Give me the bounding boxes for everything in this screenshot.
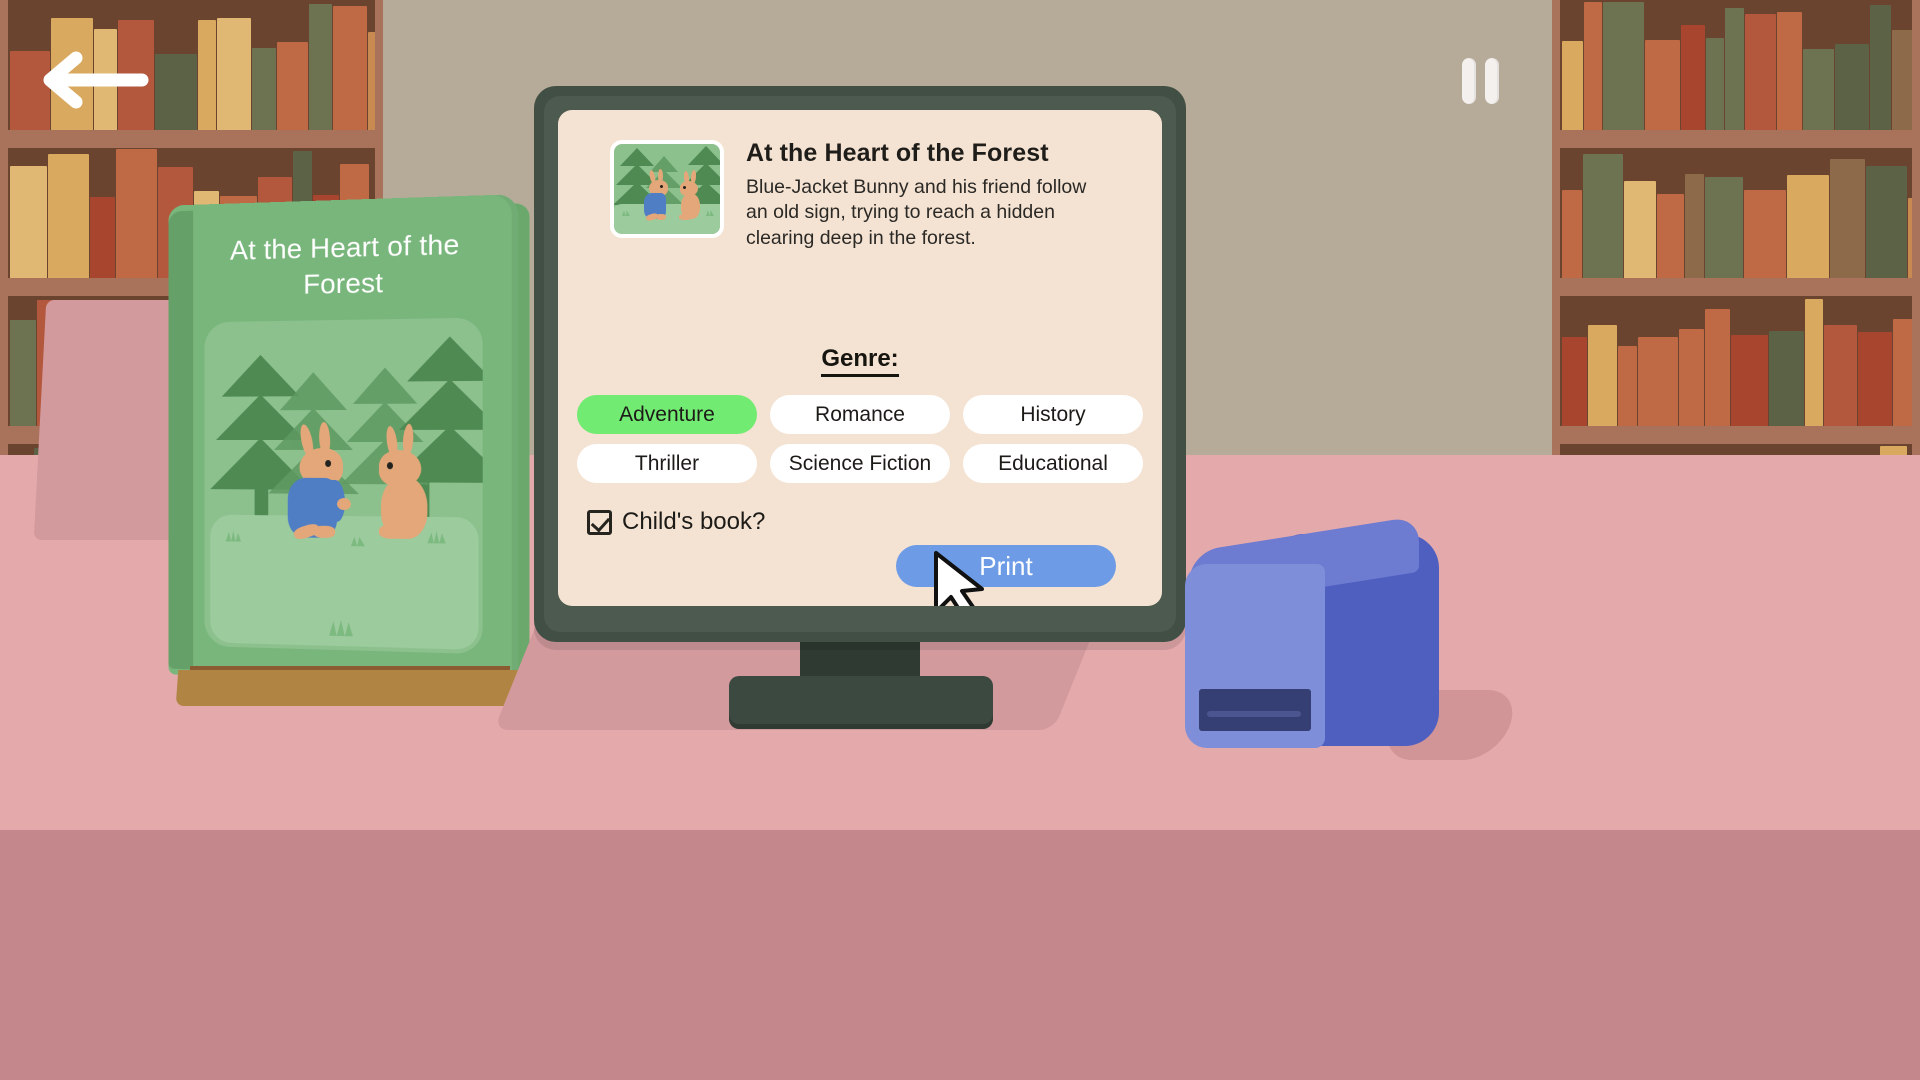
book-bottom-edge — [176, 670, 524, 706]
book-spine — [10, 320, 36, 426]
book-cover-title: At the Heart of the Forest — [197, 226, 495, 305]
monitor-screen: At the Heart of the Forest Blue-Jacket B… — [558, 110, 1162, 606]
book-spine — [1892, 30, 1912, 130]
genre-chip-history[interactable]: History — [963, 395, 1143, 434]
story-description: Blue-Jacket Bunny and his friend follow … — [746, 175, 1096, 253]
book-spine — [155, 54, 197, 130]
book-spine — [48, 154, 89, 278]
genre-options: AdventureRomanceHistoryThrillerScience F… — [577, 395, 1143, 483]
print-button[interactable]: Print — [896, 545, 1116, 587]
book-prop: At the Heart of the Forest — [163, 200, 528, 720]
genre-chip-science-fiction[interactable]: Science Fiction — [770, 444, 950, 483]
shelf-row — [1560, 296, 1912, 426]
shelf-board — [1552, 426, 1920, 442]
shelf-board — [1552, 278, 1920, 294]
genre-section-label: Genre: — [558, 345, 1162, 373]
book-spine — [1562, 337, 1587, 426]
book-spine — [1731, 335, 1768, 426]
book-spine — [333, 6, 367, 130]
back-arrow-icon — [40, 48, 150, 112]
book-spine — [252, 48, 276, 130]
book-spine — [1893, 319, 1912, 426]
mouse-cursor-icon — [932, 550, 990, 606]
book-spine — [1583, 154, 1623, 278]
book-spine — [1562, 41, 1583, 130]
story-meta: At the Heart of the Forest Blue-Jacket B… — [746, 140, 1138, 252]
book-spine — [1803, 49, 1834, 130]
book-spine — [277, 42, 308, 130]
book-spine — [1679, 329, 1704, 426]
book-spine — [1706, 38, 1724, 130]
pause-button[interactable] — [1462, 58, 1510, 108]
bunny-with-jacket — [205, 318, 483, 323]
genre-chip-label: Thriller — [635, 452, 699, 476]
book-spine — [1787, 175, 1829, 278]
book-spine — [1705, 309, 1730, 427]
book-spine — [1866, 166, 1907, 278]
story-thumbnail — [610, 140, 724, 238]
book-spine — [198, 20, 216, 130]
printer[interactable] — [1185, 520, 1450, 750]
book-spine — [1618, 346, 1637, 426]
genre-chip-label: Educational — [998, 452, 1108, 476]
book-spine — [1584, 2, 1602, 130]
pause-bar-right — [1485, 58, 1499, 104]
book-spine — [217, 18, 251, 130]
genre-chip-thriller[interactable]: Thriller — [577, 444, 757, 483]
book-spine — [1603, 2, 1644, 130]
genre-chip-label: Romance — [815, 403, 905, 427]
book-spine — [1562, 190, 1582, 278]
child-book-checkbox[interactable] — [587, 510, 612, 535]
book-spine — [1824, 325, 1857, 426]
book-spine — [1744, 190, 1786, 278]
book-spine — [1908, 198, 1912, 278]
monitor: At the Heart of the Forest Blue-Jacket B… — [534, 86, 1186, 642]
monitor-base — [729, 676, 993, 724]
printer-front-panel — [1185, 564, 1325, 748]
book-spine — [1725, 8, 1744, 130]
genre-chip-adventure[interactable]: Adventure — [577, 395, 757, 434]
bunny-plain — [205, 318, 483, 323]
story-header: At the Heart of the Forest Blue-Jacket B… — [610, 140, 1138, 252]
genre-chip-romance[interactable]: Romance — [770, 395, 950, 434]
book-spine — [1705, 177, 1743, 278]
book-spine — [1870, 5, 1891, 130]
book-spine — [368, 32, 375, 130]
story-title: At the Heart of the Forest — [746, 140, 1138, 168]
book-spine — [1624, 181, 1656, 278]
book-spine — [10, 166, 47, 278]
book-spine — [1858, 332, 1892, 426]
book-spine — [1681, 25, 1705, 130]
scene: At the Heart of the Forest — [0, 0, 1920, 1080]
genre-chip-label: Science Fiction — [789, 452, 931, 476]
child-book-row[interactable]: Child's book? — [587, 508, 765, 536]
book-spine — [1835, 44, 1869, 130]
book-spine — [1745, 14, 1776, 130]
book-spine — [1657, 194, 1684, 278]
shelf-board — [0, 130, 383, 146]
book-spine — [1769, 331, 1804, 426]
book-spine — [90, 197, 115, 278]
back-button[interactable] — [40, 48, 150, 112]
genre-chip-educational[interactable]: Educational — [963, 444, 1143, 483]
book-front-cover: At the Heart of the Forest — [168, 194, 518, 686]
genre-chip-label: Adventure — [619, 403, 715, 427]
book-spine — [1777, 12, 1802, 130]
book-spine — [168, 211, 193, 670]
child-book-label: Child's book? — [622, 508, 765, 536]
pause-bar-left — [1462, 58, 1476, 104]
book-spine — [1805, 299, 1823, 427]
book-spine — [309, 4, 332, 130]
shelf-board — [1552, 130, 1920, 146]
book-spine — [116, 149, 157, 278]
genre-chip-label: History — [1020, 403, 1085, 427]
book-spine — [1830, 159, 1865, 278]
genre-label-text: Genre: — [821, 345, 898, 377]
shelf-row — [1560, 148, 1912, 278]
book-cover-illustration — [205, 318, 483, 654]
book-spine — [1588, 325, 1617, 426]
printer-paper-slot — [1199, 689, 1311, 731]
desk-front-edge — [0, 830, 1920, 1080]
book-spine — [1685, 174, 1704, 278]
book-spine — [1638, 337, 1678, 426]
book-spine — [1645, 40, 1680, 130]
shelf-row — [1560, 0, 1912, 130]
